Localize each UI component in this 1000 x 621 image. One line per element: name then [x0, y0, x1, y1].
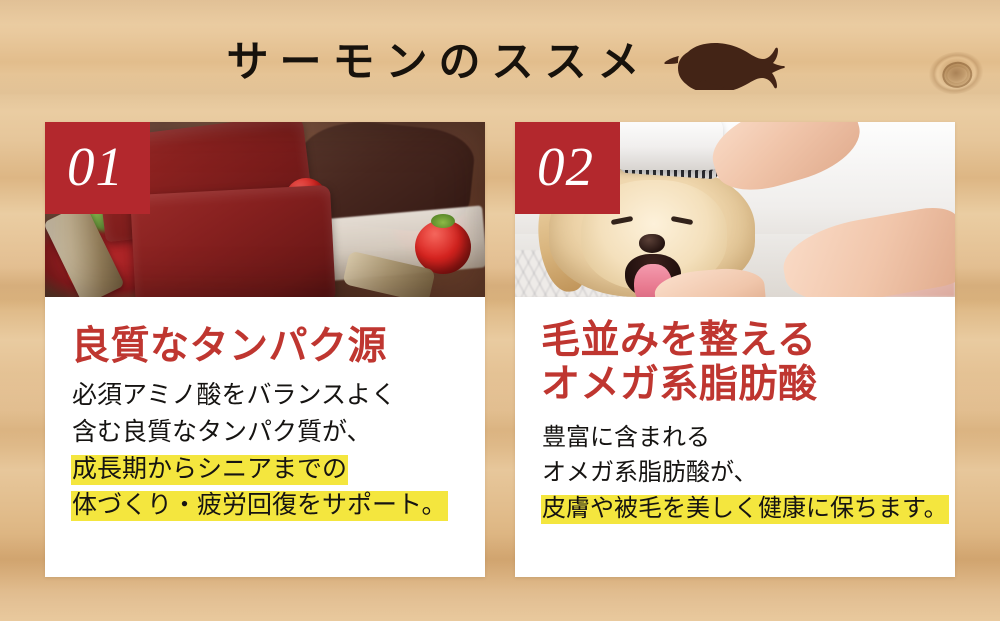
card-01-number-badge: 01	[45, 122, 150, 214]
card-01: 01 良質なタンパク源 必須アミノ酸をバランスよく 含む良質なタンパク質が、 成…	[45, 122, 485, 577]
card-02-line-3-text: 皮膚や被毛を美しく健康に保ちます。	[541, 495, 949, 524]
card-02-number-badge: 02	[515, 122, 620, 214]
card-02-line-1-text: 豊富に含まれる	[541, 424, 711, 453]
card-02-line-1: 豊富に含まれる	[541, 421, 929, 456]
card-02-number-text: 02	[537, 139, 598, 198]
card-01-photo: 01	[45, 122, 485, 297]
page-title: サーモンのススメ	[0, 32, 1000, 94]
card-01-line-2-text: 含む良質なタンパク質が、	[71, 418, 373, 448]
card-02: 02 毛並みを整える オメガ系脂肪酸 豊富に含まれる オメガ系脂肪酸が、 皮膚や…	[515, 122, 955, 577]
card-01-number-text: 01	[67, 139, 128, 198]
poster-root: サーモンのススメ	[0, 0, 1000, 621]
card-02-lines: 豊富に含まれる オメガ系脂肪酸が、 皮膚や被毛を美しく健康に保ちます。	[541, 421, 929, 527]
card-01-line-1: 必須アミノ酸をバランスよく	[71, 378, 459, 415]
card-01-body: 良質なタンパク源 必須アミノ酸をバランスよく 含む良質なタンパク質が、 成長期か…	[45, 297, 485, 525]
page-title-text: サーモンのススメ	[215, 42, 650, 84]
card-01-line-4: 体づくり・疲労回復をサポート。	[71, 488, 459, 525]
card-01-line-3-text: 成長期からシニアまでの	[71, 455, 348, 485]
card-01-line-3: 成長期からシニアまでの	[71, 452, 459, 489]
card-01-line-1-text: 必須アミノ酸をバランスよく	[71, 381, 397, 411]
salmon-fish-icon	[657, 36, 785, 90]
card-01-line-4-text: 体づくり・疲労回復をサポート。	[71, 491, 448, 521]
cards-container: 01 良質なタンパク源 必須アミノ酸をバランスよく 含む良質なタンパク質が、 成…	[45, 122, 955, 577]
card-02-line-2: オメガ系脂肪酸が、	[541, 456, 929, 491]
card-02-line-3: 皮膚や被毛を美しく健康に保ちます。	[541, 492, 929, 527]
card-02-line-2-text: オメガ系脂肪酸が、	[541, 459, 759, 488]
card-02-heading: 毛並みを整える オメガ系脂肪酸	[541, 297, 929, 407]
card-02-photo: 02	[515, 122, 955, 297]
card-01-heading: 良質なタンパク源	[71, 297, 459, 369]
card-01-line-2: 含む良質なタンパク質が、	[71, 415, 459, 452]
card-01-lines: 必須アミノ酸をバランスよく 含む良質なタンパク質が、 成長期からシニアまでの 体…	[71, 378, 459, 525]
photo-dog-nose	[639, 234, 665, 253]
photo-brush-body	[611, 122, 723, 170]
card-02-body: 毛並みを整える オメガ系脂肪酸 豊富に含まれる オメガ系脂肪酸が、 皮膚や被毛を…	[515, 297, 955, 527]
